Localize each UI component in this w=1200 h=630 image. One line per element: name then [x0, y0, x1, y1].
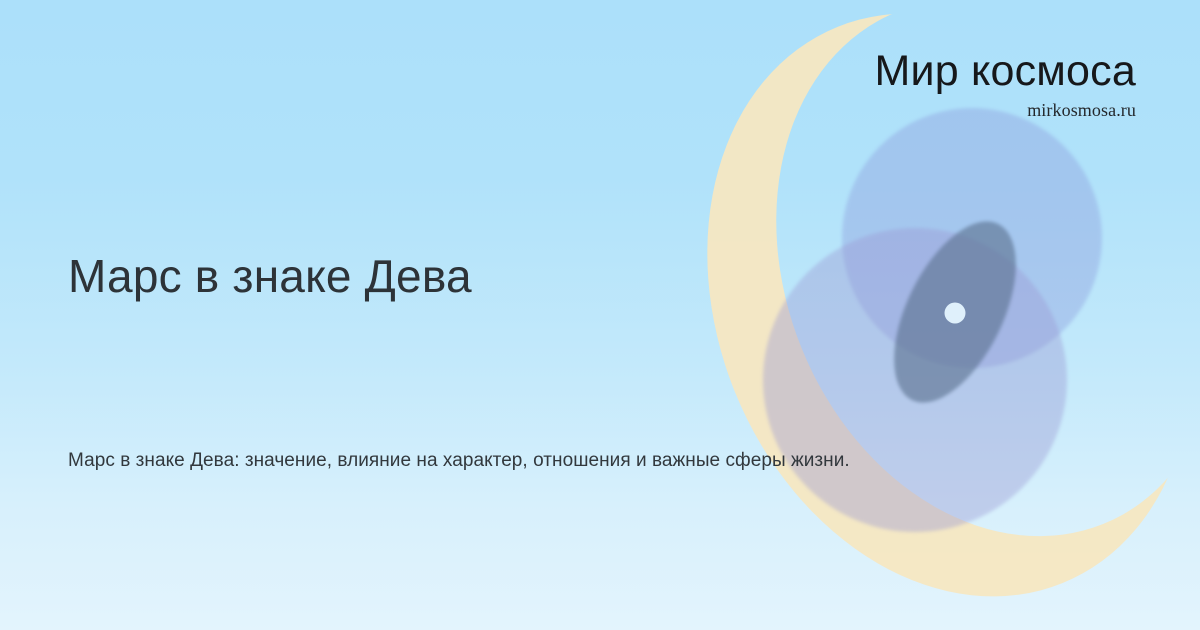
center-dot — [945, 303, 966, 324]
page-title: Марс в знаке Дева — [68, 249, 472, 303]
brand-name: Мир космоса — [874, 50, 1136, 94]
brand-block[interactable]: Мир космоса mirkosmosa.ru — [874, 50, 1136, 121]
core-ellipse — [869, 203, 1041, 421]
orbit-circle-lower — [763, 228, 1067, 532]
brand-url[interactable]: mirkosmosa.ru — [874, 101, 1136, 121]
page-description: Марс в знаке Дева: значение, влияние на … — [68, 447, 850, 475]
og-card: Мир космоса mirkosmosa.ru Марс в знаке Д… — [0, 0, 1200, 630]
orbit-circle-upper — [842, 108, 1102, 368]
